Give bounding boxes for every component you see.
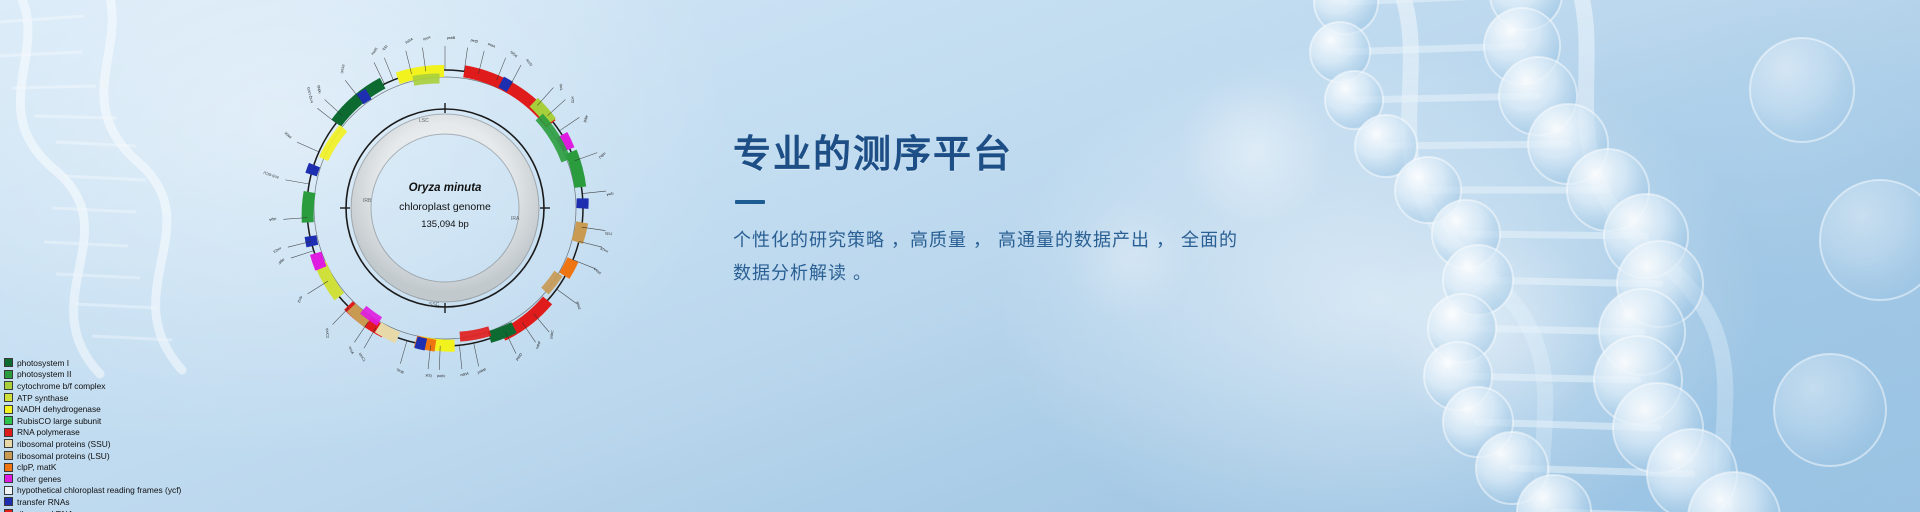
svg-text:rpoA: rpoA (423, 35, 432, 41)
svg-text:rps16: rps16 (340, 64, 346, 74)
legend-item: photosystem II (4, 369, 181, 381)
svg-text:rpl16: rpl16 (509, 50, 518, 58)
svg-text:rpoB: rpoB (396, 367, 405, 375)
legend-swatch-nadh-dehydrogenase (4, 405, 13, 414)
legend-swatch-other-genes (4, 474, 13, 483)
svg-text:ycf2: ycf2 (570, 96, 575, 103)
genome-subtitle: chloroplast genome (243, 201, 647, 213)
legend-swatch-rubisco-large-subunit (4, 416, 13, 425)
legend-item: hypothetical chloroplast reading frames … (4, 485, 181, 497)
legend-item: NADH dehydrogenase (4, 403, 181, 415)
svg-text:ycf1: ycf1 (425, 373, 432, 378)
legend-label: clpP, matK (17, 462, 56, 472)
svg-text:ccsA: ccsA (348, 346, 355, 355)
svg-text:rpl2: rpl2 (381, 44, 388, 51)
svg-text:petA: petA (487, 42, 496, 49)
legend-item: clpP, matK (4, 461, 181, 473)
svg-text:ndhB: ndhB (317, 84, 322, 93)
svg-text:rpoC1: rpoC1 (358, 352, 366, 362)
svg-text:psbM: psbM (477, 367, 487, 374)
legend-item: transfer RNAs (4, 496, 181, 508)
legend-item: other genes (4, 473, 181, 485)
svg-text:trnQ-UUG: trnQ-UUG (306, 86, 314, 103)
svg-text:ycf3: ycf3 (605, 231, 612, 237)
svg-text:atpF: atpF (277, 258, 286, 266)
legend-label: photosystem II (17, 369, 71, 379)
svg-text:rrn16: rrn16 (600, 246, 609, 253)
svg-text:psaB: psaB (575, 300, 582, 310)
svg-text:matK: matK (370, 46, 379, 56)
legend-item: photosystem I (4, 357, 181, 369)
legend-label: other genes (17, 474, 61, 484)
legend-label: photosystem I (17, 358, 69, 368)
legend-swatch-transfer-rnas (4, 497, 13, 506)
legend-label: ATP synthase (17, 393, 68, 403)
svg-text:rbcL: rbcL (559, 83, 564, 90)
banner-subcopy: 个性化的研究策略 ，高质量 ， 高通量的数据产出 ， 全面的数据分析解读 。 (733, 224, 1253, 291)
genome-map-legend: photosystem I photosystem II cytochrome … (4, 357, 181, 512)
legend-label: hypothetical chloroplast reading frames … (17, 485, 181, 495)
genome-length: 135,094 bp (243, 219, 647, 230)
svg-text:psbC: psbC (549, 330, 554, 339)
svg-text:rrn23: rrn23 (273, 246, 282, 253)
svg-text:SSC: SSC (429, 302, 440, 308)
chloroplast-genome-map: psbA matK rps16 trnQ-UUG psbK trnS-GCU a… (243, 6, 647, 410)
legend-item: ATP synthase (4, 392, 181, 404)
legend-item: ribosomal proteins (LSU) (4, 450, 181, 462)
genome-species-name: Oryza minuta (243, 182, 647, 194)
dna-helix-right-decoration (1190, 0, 1920, 512)
svg-text:accD: accD (525, 58, 533, 67)
legend-label: ribosomal proteins (LSU) (17, 451, 110, 461)
legend-item: ribosomal proteins (SSU) (4, 438, 181, 450)
svg-text:ndhF: ndhF (535, 340, 542, 350)
svg-text:ndhA: ndhA (460, 371, 470, 377)
title-divider (735, 200, 765, 204)
legend-item: RubisCO large subunit (4, 415, 181, 427)
svg-text:psbB: psbB (447, 36, 456, 40)
legend-swatch-photosystem-i (4, 358, 13, 367)
legend-swatch-hypothetical-reading-frames (4, 486, 13, 495)
legend-label: ribosomal proteins (SSU) (17, 439, 111, 449)
svg-text:atpB: atpB (582, 115, 589, 124)
legend-item: RNA polymerase (4, 427, 181, 439)
page-title: 专业的测序平台 (733, 134, 1293, 178)
legend-item: ribosomal RNAs (4, 508, 181, 512)
legend-swatch-cytochrome-bf-complex (4, 381, 13, 390)
legend-item: cytochrome b/f complex (4, 380, 181, 392)
legend-swatch-photosystem-ii (4, 370, 13, 379)
sequencing-platform-banner: psbA matK rps16 trnQ-UUG psbK trnS-GCU a… (0, 0, 1920, 512)
svg-text:rpoC2: rpoC2 (325, 328, 329, 338)
legend-label: cytochrome b/f complex (17, 381, 105, 391)
legend-swatch-atp-synthase (4, 393, 13, 402)
svg-text:psbK: psbK (283, 130, 292, 139)
svg-text:petN: petN (437, 374, 445, 379)
legend-label: RubisCO large subunit (17, 416, 101, 426)
svg-text:trnS-GCU: trnS-GCU (263, 170, 280, 179)
banner-text-block: 专业的测序平台 个性化的研究策略 ，高质量 ， 高通量的数据产出 ， 全面的数据… (733, 134, 1293, 290)
svg-text:psaA: psaA (593, 266, 602, 275)
svg-text:LSC: LSC (419, 118, 429, 124)
legend-swatch-clpp-matk (4, 463, 13, 472)
legend-label: NADH dehydrogenase (17, 404, 101, 414)
legend-label: RNA polymerase (17, 427, 80, 437)
svg-text:psbA: psbA (405, 37, 415, 45)
svg-text:ndhJ: ndhJ (598, 151, 607, 159)
legend-swatch-ribosomal-proteins-ssu (4, 439, 13, 448)
legend-label: ribosomal RNAs (17, 509, 78, 512)
svg-text:petD: petD (470, 38, 479, 44)
legend-label: transfer RNAs (17, 497, 70, 507)
svg-text:rps2: rps2 (297, 295, 304, 303)
legend-swatch-ribosomal-proteins-lsu (4, 451, 13, 460)
legend-swatch-rna-polymerase (4, 428, 13, 437)
